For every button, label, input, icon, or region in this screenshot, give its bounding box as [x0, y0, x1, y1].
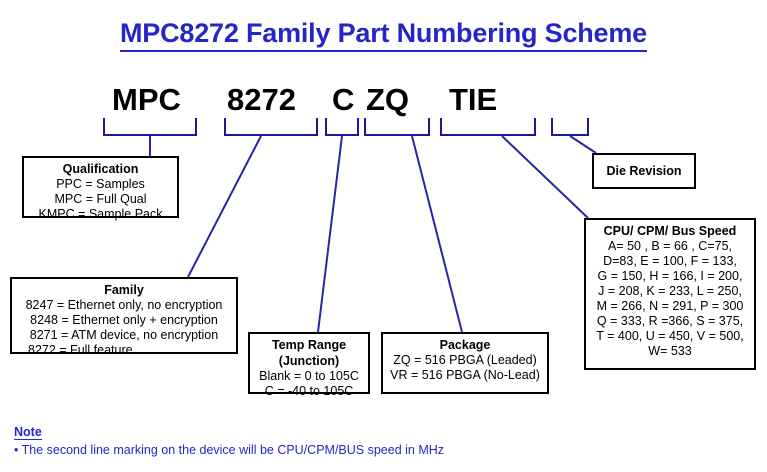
- box-package-heading: Package: [387, 337, 543, 353]
- part-segment-qualification: MPC: [112, 84, 181, 115]
- bracket-die-revision: [551, 118, 589, 136]
- bracket-qualification: [103, 118, 197, 136]
- box-qualification-line-3: KMPC = Sample Pack: [28, 207, 173, 222]
- connector-package: [412, 136, 462, 332]
- box-family-line-4: 8272 = Full feature: [16, 343, 232, 358]
- box-family-line-3: 8271 = ATM device, no encryption: [16, 328, 232, 343]
- box-family-line-2: 8248 = Ethernet only + encryption: [16, 313, 232, 328]
- box-family-line-1: 8247 = Ethernet only, no encryption: [16, 298, 232, 313]
- connector-die-revision: [570, 136, 596, 153]
- part-numbering-diagram: MPC8272 Family Part Numbering Scheme MPC…: [0, 0, 767, 472]
- part-segment-speed: TIE: [449, 84, 497, 115]
- box-speed-heading: CPU/ CPM/ Bus Speed: [590, 223, 750, 239]
- box-temp-range: Temp Range (Junction) Blank = 0 to 105C …: [248, 332, 370, 394]
- box-temp-range-line-1: Blank = 0 to 105C: [254, 369, 364, 384]
- box-speed-line-5: M = 266, N = 291, P = 300: [590, 299, 750, 314]
- box-speed: CPU/ CPM/ Bus Speed A= 50 , B = 66 , C=7…: [584, 218, 756, 370]
- box-die-revision-heading: Die Revision: [606, 163, 681, 179]
- box-package: Package ZQ = 516 PBGA (Leaded) VR = 516 …: [381, 332, 549, 394]
- connector-family: [188, 136, 261, 277]
- bracket-family: [224, 118, 318, 136]
- page-title-text: MPC8272 Family Part Numbering Scheme: [120, 18, 647, 52]
- box-qualification-line-1: PPC = Samples: [28, 177, 173, 192]
- box-family-heading: Family: [16, 282, 232, 298]
- box-temp-range-line-2: C = -40 to 105C: [254, 384, 364, 399]
- box-speed-line-4: J = 208, K = 233, L = 250,: [590, 284, 750, 299]
- note: Note • The second line marking on the de…: [14, 424, 444, 458]
- box-die-revision: Die Revision: [592, 153, 696, 189]
- box-temp-range-heading: Temp Range: [254, 337, 364, 353]
- note-text: • The second line marking on the device …: [14, 442, 444, 458]
- connector-temp-range: [318, 136, 342, 332]
- bracket-speed: [440, 118, 536, 136]
- box-speed-line-2: D=83, E = 100, F = 133,: [590, 254, 750, 269]
- part-segment-package: ZQ: [366, 84, 409, 115]
- part-segment-temp-range: C: [332, 84, 354, 115]
- box-qualification-heading: Qualification: [28, 161, 173, 177]
- bracket-package: [364, 118, 430, 136]
- box-package-line-1: ZQ = 516 PBGA (Leaded): [387, 353, 543, 368]
- part-segment-family: 8272: [227, 84, 296, 115]
- box-temp-range-heading-2: (Junction): [254, 353, 364, 369]
- connector-speed: [502, 136, 588, 218]
- box-family: Family 8247 = Ethernet only, no encrypti…: [10, 277, 238, 354]
- box-speed-line-1: A= 50 , B = 66 , C=75,: [590, 239, 750, 254]
- box-speed-line-6: Q = 333, R =366, S = 375,: [590, 314, 750, 329]
- box-speed-line-3: G = 150, H = 166, I = 200,: [590, 269, 750, 284]
- bracket-temp-range: [325, 118, 359, 136]
- box-qualification: Qualification PPC = Samples MPC = Full Q…: [22, 156, 179, 218]
- box-speed-line-7: T = 400, U = 450, V = 500,: [590, 329, 750, 344]
- page-title: MPC8272 Family Part Numbering Scheme: [0, 18, 767, 49]
- note-heading: Note: [14, 425, 42, 440]
- box-qualification-line-2: MPC = Full Qual: [28, 192, 173, 207]
- box-speed-line-8: W= 533: [590, 344, 750, 359]
- box-package-line-2: VR = 516 PBGA (No-Lead): [387, 368, 543, 383]
